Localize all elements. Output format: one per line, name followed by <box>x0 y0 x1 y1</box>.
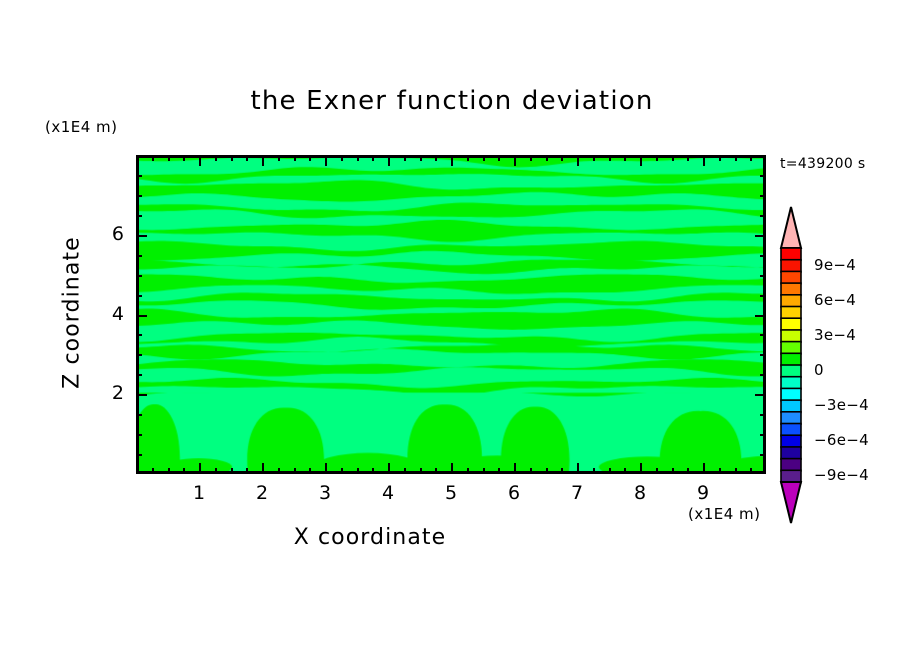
x-tick <box>609 468 611 474</box>
x-tick-top <box>530 155 532 161</box>
x-tick <box>703 463 705 474</box>
x-tick <box>735 468 737 474</box>
y-axis-unit-label: (x1E4 m) <box>45 118 118 136</box>
x-tick <box>278 468 280 474</box>
x-tick <box>199 463 201 474</box>
y-tick-label: 4 <box>84 303 124 325</box>
colorbar-tick-label: −6e−4 <box>814 431 869 449</box>
x-tick <box>672 468 674 474</box>
y-tick-right <box>760 434 766 436</box>
y-tick <box>136 295 142 297</box>
y-tick-label: 6 <box>84 223 124 245</box>
x-tick-label: 9 <box>683 482 723 504</box>
x-tick-top <box>577 155 579 166</box>
time-annotation: t=439200 s <box>780 156 865 172</box>
y-tick-right <box>760 255 766 257</box>
x-axis-title: X coordinate <box>0 525 740 550</box>
y-tick <box>136 334 142 336</box>
y-tick <box>136 275 142 277</box>
y-tick <box>136 374 142 376</box>
y-tick <box>136 195 142 197</box>
x-tick-top <box>719 155 721 161</box>
x-tick <box>246 468 248 474</box>
x-tick-top <box>561 155 563 161</box>
x-tick-top <box>750 155 752 161</box>
x-tick-top <box>672 155 674 161</box>
x-tick <box>294 468 296 474</box>
x-tick-top <box>467 155 469 161</box>
x-tick <box>357 468 359 474</box>
x-tick-top <box>483 155 485 161</box>
x-tick-label: 8 <box>620 482 660 504</box>
y-axis-title: Z coordinate <box>60 223 85 403</box>
plot-area <box>136 155 766 474</box>
x-tick <box>624 468 626 474</box>
x-tick <box>514 463 516 474</box>
x-tick-top <box>435 155 437 161</box>
y-tick-right <box>760 175 766 177</box>
colorbar-tick-label: −9e−4 <box>814 466 869 484</box>
x-tick-top <box>183 155 185 161</box>
x-tick <box>546 468 548 474</box>
colorbar-tick-label: 9e−4 <box>814 256 856 274</box>
y-tick-label: 2 <box>84 382 124 404</box>
x-tick-top <box>498 155 500 161</box>
x-tick-top <box>246 155 248 161</box>
x-tick <box>498 468 500 474</box>
x-tick-label: 2 <box>242 482 282 504</box>
y-tick-right <box>760 275 766 277</box>
y-tick <box>136 414 142 416</box>
x-tick-top <box>703 155 705 166</box>
x-tick <box>656 468 658 474</box>
x-tick <box>325 463 327 474</box>
x-tick-top <box>215 155 217 161</box>
x-tick <box>152 468 154 474</box>
x-tick-label: 3 <box>305 482 345 504</box>
x-tick <box>231 468 233 474</box>
x-tick-top <box>609 155 611 161</box>
contour-field <box>139 158 763 471</box>
x-tick-top <box>309 155 311 161</box>
y-tick-right <box>760 454 766 456</box>
x-tick <box>168 468 170 474</box>
x-tick <box>388 463 390 474</box>
x-tick-top <box>546 155 548 161</box>
x-tick-top <box>199 155 201 166</box>
x-tick <box>183 468 185 474</box>
x-tick-top <box>341 155 343 161</box>
colorbar <box>778 206 804 524</box>
figure-root: the Exner function deviation (x1E4 m) t=… <box>0 0 904 654</box>
colorbar-swatches <box>778 206 804 524</box>
y-tick-right <box>755 235 766 237</box>
x-tick-label: 1 <box>179 482 219 504</box>
x-tick-top <box>294 155 296 161</box>
x-tick <box>577 463 579 474</box>
x-tick-top <box>168 155 170 161</box>
x-tick <box>467 468 469 474</box>
x-tick <box>593 468 595 474</box>
y-tick <box>136 235 147 237</box>
x-tick-label: 4 <box>368 482 408 504</box>
page-title: the Exner function deviation <box>0 86 904 116</box>
x-tick-top <box>231 155 233 161</box>
x-tick-top <box>262 155 264 166</box>
x-tick-top <box>404 155 406 161</box>
x-tick <box>215 468 217 474</box>
y-tick <box>136 215 142 217</box>
x-tick-top <box>687 155 689 161</box>
y-tick <box>136 175 142 177</box>
x-tick <box>420 468 422 474</box>
x-tick-top <box>451 155 453 166</box>
x-tick-top <box>372 155 374 161</box>
x-tick-label: 5 <box>431 482 471 504</box>
y-tick <box>136 315 147 317</box>
x-tick <box>309 468 311 474</box>
y-tick-right <box>760 354 766 356</box>
y-tick-right <box>760 334 766 336</box>
x-tick <box>435 468 437 474</box>
x-tick-top <box>593 155 595 161</box>
x-tick-top <box>420 155 422 161</box>
y-tick-right <box>760 414 766 416</box>
x-axis-unit-label: (x1E4 m) <box>688 505 761 523</box>
x-tick <box>262 463 264 474</box>
x-tick-top <box>514 155 516 166</box>
x-tick-label: 6 <box>494 482 534 504</box>
x-tick <box>640 463 642 474</box>
x-tick <box>561 468 563 474</box>
x-tick-top <box>325 155 327 166</box>
x-tick <box>372 468 374 474</box>
x-tick <box>451 463 453 474</box>
x-tick <box>404 468 406 474</box>
y-tick <box>136 354 142 356</box>
x-tick-top <box>656 155 658 161</box>
x-tick-top <box>735 155 737 161</box>
x-tick-top <box>388 155 390 166</box>
x-tick-top <box>357 155 359 161</box>
y-tick <box>136 394 147 396</box>
x-tick-top <box>152 155 154 161</box>
x-tick <box>750 468 752 474</box>
x-tick-top <box>278 155 280 161</box>
colorbar-tick-label: 3e−4 <box>814 326 856 344</box>
y-tick <box>136 434 142 436</box>
y-tick-right <box>755 394 766 396</box>
colorbar-tick-label: 6e−4 <box>814 291 856 309</box>
y-tick-right <box>760 295 766 297</box>
colorbar-tick-label: −3e−4 <box>814 396 869 414</box>
x-tick <box>341 468 343 474</box>
x-tick <box>687 468 689 474</box>
x-tick <box>530 468 532 474</box>
y-tick-right <box>760 195 766 197</box>
y-tick-right <box>760 374 766 376</box>
colorbar-tick-label: 0 <box>814 361 824 379</box>
x-tick-top <box>624 155 626 161</box>
x-tick <box>719 468 721 474</box>
y-tick <box>136 255 142 257</box>
y-tick-right <box>755 315 766 317</box>
x-tick-top <box>640 155 642 166</box>
x-tick-label: 7 <box>557 482 597 504</box>
y-tick-right <box>760 215 766 217</box>
y-tick <box>136 454 142 456</box>
x-tick <box>483 468 485 474</box>
